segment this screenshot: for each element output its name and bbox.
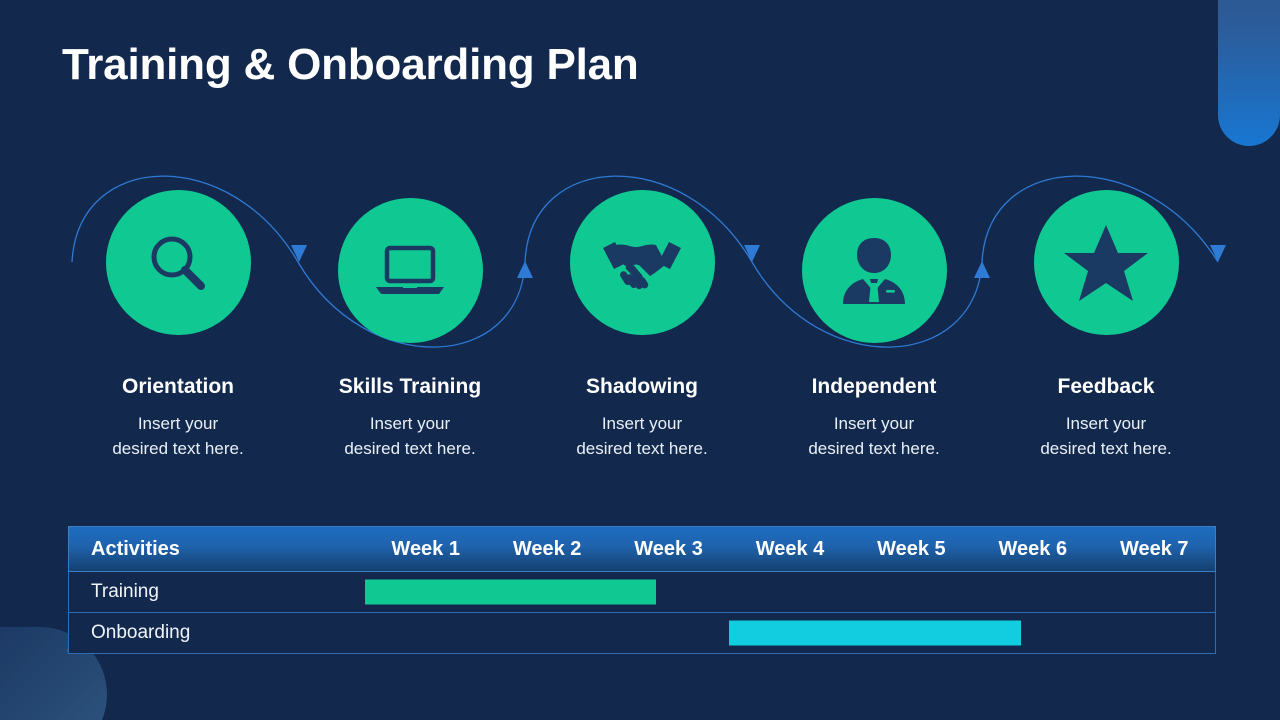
step-description: Insert your desired text here. [112, 411, 243, 461]
column-header-week-5: Week 5 [851, 538, 972, 561]
step-icon-circle [338, 198, 483, 343]
column-header-week-3: Week 3 [608, 538, 729, 561]
handshake-icon [600, 235, 684, 291]
step-feedback[interactable]: Feedback Insert your desired text here. [990, 190, 1222, 461]
column-header-week-2: Week 2 [486, 538, 607, 561]
gantt-track-onboarding [365, 613, 1215, 653]
businessperson-icon [839, 234, 909, 308]
step-orientation[interactable]: Orientation Insert your desired text her… [62, 190, 294, 461]
column-header-activities: Activities [69, 538, 365, 561]
step-icon-circle [1034, 190, 1179, 335]
gantt-track-training [365, 572, 1215, 612]
column-header-week-1: Week 1 [365, 538, 486, 561]
step-icon-circle [802, 198, 947, 343]
step-icon-circle [570, 190, 715, 335]
step-title: Independent [812, 375, 937, 399]
slide-canvas: Training & Onboarding Plan [0, 0, 1280, 720]
gantt-table: Activities Week 1 Week 2 Week 3 Week 4 W… [68, 526, 1216, 654]
gantt-bar-onboarding[interactable] [729, 621, 1020, 646]
step-description: Insert your desired text here. [344, 411, 475, 461]
magnifier-icon [141, 226, 215, 300]
laptop-icon [372, 240, 448, 302]
row-label-onboarding: Onboarding [69, 622, 365, 644]
step-description: Insert your desired text here. [576, 411, 707, 461]
step-description: Insert your desired text here. [808, 411, 939, 461]
table-row[interactable]: Training [68, 572, 1216, 613]
gantt-header-row: Activities Week 1 Week 2 Week 3 Week 4 W… [68, 526, 1216, 572]
column-header-week-7: Week 7 [1094, 538, 1215, 561]
step-skills-training[interactable]: Skills Training Insert your desired text… [294, 190, 526, 461]
row-label-training: Training [69, 581, 365, 603]
column-header-week-6: Week 6 [972, 538, 1093, 561]
steps-row: Orientation Insert your desired text her… [62, 190, 1222, 461]
step-title: Shadowing [586, 375, 698, 399]
step-description: Insert your desired text here. [1040, 411, 1171, 461]
step-shadowing[interactable]: Shadowing Insert your desired text here. [526, 190, 758, 461]
step-title: Skills Training [339, 375, 481, 399]
step-title: Orientation [122, 375, 234, 399]
table-row[interactable]: Onboarding [68, 613, 1216, 654]
column-header-week-4: Week 4 [729, 538, 850, 561]
step-icon-circle [106, 190, 251, 335]
step-independent[interactable]: Independent Insert your desired text her… [758, 190, 990, 461]
step-title: Feedback [1058, 375, 1155, 399]
star-icon [1064, 223, 1148, 303]
gantt-bar-training[interactable] [365, 580, 656, 605]
